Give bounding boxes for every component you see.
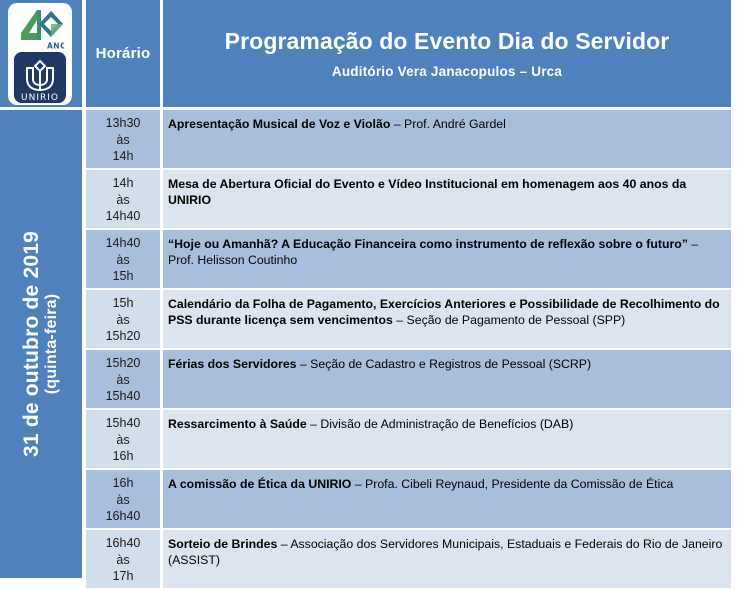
table-row: 16hàs16h40A comissão de Ética da UNIRIO … — [86, 470, 731, 528]
activity-title: Apresentação Musical de Voz e Violão — [168, 117, 390, 131]
time-separator: às — [86, 552, 160, 569]
logo-plate: ANOS UNIRIO — [8, 3, 72, 105]
time-start: 16h40 — [86, 535, 160, 552]
time-end: 15h40 — [86, 388, 160, 405]
schedule-description-cell: Sorteio de Brindes – Associação dos Serv… — [163, 530, 731, 588]
activity-speaker: – Divisão de Administração de Benefícios… — [307, 417, 574, 431]
time-separator: às — [86, 192, 160, 209]
schedule-description-cell: “Hoje ou Amanhã? A Educação Financeira c… — [163, 230, 731, 288]
unirio-wordmark: UNIRIO — [21, 93, 59, 103]
schedule-description-cell: A comissão de Ética da UNIRIO – Profa. C… — [163, 470, 731, 528]
activity-title: “Hoje ou Amanhã? A Educação Financeira c… — [168, 237, 688, 251]
time-end: 15h20 — [86, 328, 160, 345]
anos-40-logo-icon: ANOS — [18, 7, 64, 51]
time-separator: às — [86, 372, 160, 389]
time-start: 14h — [86, 175, 160, 192]
time-end: 15h — [86, 268, 160, 285]
date-line-2: (quinta-feira) — [43, 231, 61, 457]
header-title-block: Programação do Evento Dia do Servidor Au… — [163, 0, 731, 107]
logo-cell: ANOS UNIRIO — [0, 0, 82, 107]
svg-text:ANOS: ANOS — [47, 42, 64, 51]
schedule-time-cell: 16hàs16h40 — [86, 470, 160, 528]
schedule-table: 13h30às14hApresentação Musical de Voz e … — [86, 110, 731, 588]
date-line-1: 31 de outubro de 2019 — [21, 231, 43, 457]
table-row: 15h20às15h40Férias dos Servidores – Seçã… — [86, 350, 731, 408]
activity-title: A comissão de Ética da UNIRIO — [168, 477, 351, 491]
activity-speaker: – Seção de Cadastro e Registros de Pesso… — [297, 357, 592, 371]
header-time-label: Horário — [96, 45, 151, 62]
time-start: 15h — [86, 295, 160, 312]
activity-speaker: – Prof. André Gardel — [390, 117, 506, 131]
schedule-description-cell: Férias dos Servidores – Seção de Cadastr… — [163, 350, 731, 408]
schedule-time-cell: 14h40às15h — [86, 230, 160, 288]
schedule-time-cell: 15h40às16h — [86, 410, 160, 468]
schedule-time-cell: 13h30às14h — [86, 110, 160, 168]
table-row: 14hàs14h40Mesa de Abertura Oficial do Ev… — [86, 170, 731, 228]
table-row: 15h40às16hRessarcimento à Saúde – Divisã… — [86, 410, 731, 468]
time-end: 16h40 — [86, 508, 160, 525]
time-separator: às — [86, 432, 160, 449]
activity-speaker: – Seção de Pagamento de Pessoal (SPP) — [393, 313, 625, 327]
schedule-description-cell: Calendário da Folha de Pagamento, Exercí… — [163, 290, 731, 348]
time-start: 15h40 — [86, 415, 160, 432]
table-row: 13h30às14hApresentação Musical de Voz e … — [86, 110, 731, 168]
schedule-description-cell: Apresentação Musical de Voz e Violão – P… — [163, 110, 731, 168]
table-row: 14h40às15h“Hoje ou Amanhã? A Educação Fi… — [86, 230, 731, 288]
header-time-column: Horário — [86, 0, 160, 107]
event-schedule-poster: ANOS UNIRIO — [0, 0, 737, 589]
schedule-description-cell: Ressarcimento à Saúde – Divisão de Admin… — [163, 410, 731, 468]
activity-speaker: – Profa. Cibeli Reynaud, Presidente da C… — [351, 477, 673, 491]
time-start: 15h20 — [86, 355, 160, 372]
schedule-description-cell: Mesa de Abertura Oficial do Evento e Víd… — [163, 170, 731, 228]
time-separator: às — [86, 312, 160, 329]
schedule-time-cell: 14hàs14h40 — [86, 170, 160, 228]
time-end: 14h40 — [86, 208, 160, 225]
time-end: 16h — [86, 448, 160, 465]
time-start: 13h30 — [86, 115, 160, 132]
page-subtitle: Auditório Vera Janacopulos – Urca — [332, 64, 562, 79]
schedule-time-cell: 15hàs15h20 — [86, 290, 160, 348]
activity-title: Sorteio de Brindes — [168, 537, 277, 551]
schedule-time-cell: 15h20às15h40 — [86, 350, 160, 408]
unirio-logo-icon: UNIRIO — [14, 52, 66, 103]
schedule-time-cell: 16h40às17h — [86, 530, 160, 588]
date-column-text: 31 de outubro de 2019 (quinta-feira) — [21, 231, 61, 457]
time-separator: às — [86, 252, 160, 269]
time-end: 14h — [86, 148, 160, 165]
date-column: 31 de outubro de 2019 (quinta-feira) — [0, 110, 82, 578]
time-end: 17h — [86, 568, 160, 585]
activity-title: Mesa de Abertura Oficial do Evento e Víd… — [168, 177, 686, 207]
time-start: 16h — [86, 475, 160, 492]
table-row: 15hàs15h20Calendário da Folha de Pagamen… — [86, 290, 731, 348]
poster-header: ANOS UNIRIO — [0, 0, 737, 107]
activity-title: Férias dos Servidores — [168, 357, 297, 371]
table-row: 16h40às17hSorteio de Brindes – Associaçã… — [86, 530, 731, 588]
time-separator: às — [86, 492, 160, 509]
activity-title: Ressarcimento à Saúde — [168, 417, 307, 431]
time-start: 14h40 — [86, 235, 160, 252]
page-title: Programação do Evento Dia do Servidor — [225, 28, 670, 54]
time-separator: às — [86, 132, 160, 149]
